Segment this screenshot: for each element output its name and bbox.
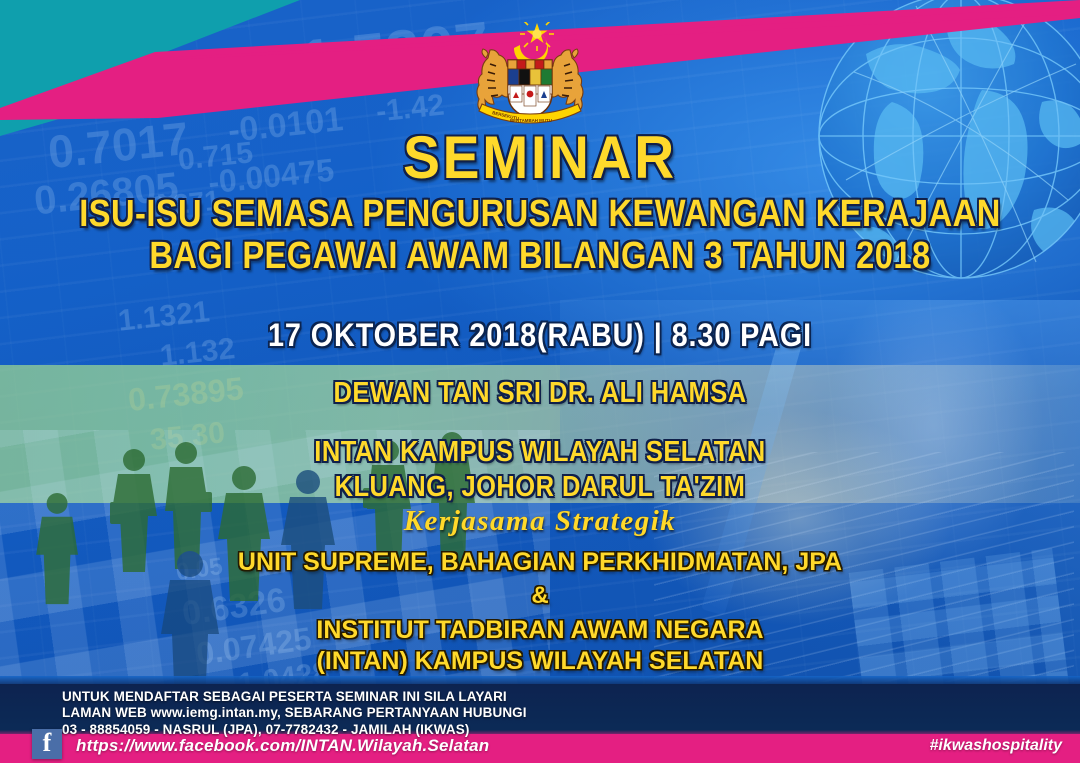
headline-block: SEMINAR ISU-ISU SEMASA PENGURUSAN KEWANG… bbox=[0, 128, 1080, 277]
malaysia-coat-of-arms-icon: BERSEKUTU BERTAMBAH MUTU bbox=[470, 22, 590, 134]
title-subject-line-1: ISU-ISU SEMASA PENGURUSAN KEWANGAN KERAJ… bbox=[76, 194, 1005, 234]
venue-city: KLUANG, JOHOR DARUL TA'ZIM bbox=[65, 471, 1015, 504]
collaboration-conjunction: & bbox=[0, 582, 1080, 610]
hashtag-text: #ikwashospitality bbox=[930, 737, 1063, 755]
venue-block: DEWAN TAN SRI DR. ALI HAMSA INTAN KAMPUS… bbox=[0, 377, 1080, 504]
title-subject-line-2: BAGI PEGAWAI AWAM BILANGAN 3 TAHUN 2018 bbox=[76, 236, 1005, 276]
seminar-poster: 1.5307 Change 0.7017 0.715 -0.0101 -1.42… bbox=[0, 0, 1080, 763]
collaboration-block: Kerjasama Strategik UNIT SUPREME, BAHAGI… bbox=[0, 505, 1080, 676]
collaboration-org-2-line-1: INSTITUT TADBIRAN AWAM NEGARA bbox=[0, 616, 1080, 645]
venue-campus: INTAN KAMPUS WILAYAH SELATAN bbox=[65, 436, 1015, 469]
svg-text:BERTAMBAH MUTU: BERTAMBAH MUTU bbox=[510, 118, 552, 123]
registration-line-1: UNTUK MENDAFTAR SEBAGAI PESERTA SEMINAR … bbox=[62, 689, 527, 705]
collaboration-org-1: UNIT SUPREME, BAHAGIAN PERKHIDMATAN, JPA bbox=[0, 548, 1080, 577]
date-time-text: 17 OKTOBER 2018(RABU) | 8.30 PAGI bbox=[54, 317, 1026, 354]
facebook-url-link[interactable]: https://www.facebook.com/INTAN.Wilayah.S… bbox=[76, 736, 489, 756]
facebook-icon[interactable]: f bbox=[32, 729, 62, 759]
registration-line-2: LAMAN WEB www.iemg.intan.my, SEBARANG PE… bbox=[62, 705, 527, 721]
facebook-icon-glyph: f bbox=[43, 728, 52, 758]
title-seminar: SEMINAR bbox=[43, 128, 1037, 188]
collaboration-heading: Kerjasama Strategik bbox=[0, 505, 1080, 538]
collaboration-org-2-line-2: (INTAN) KAMPUS WILAYAH SELATAN bbox=[0, 647, 1080, 676]
registration-info: UNTUK MENDAFTAR SEBAGAI PESERTA SEMINAR … bbox=[62, 689, 527, 738]
venue-hall: DEWAN TAN SRI DR. ALI HAMSA bbox=[65, 377, 1015, 410]
